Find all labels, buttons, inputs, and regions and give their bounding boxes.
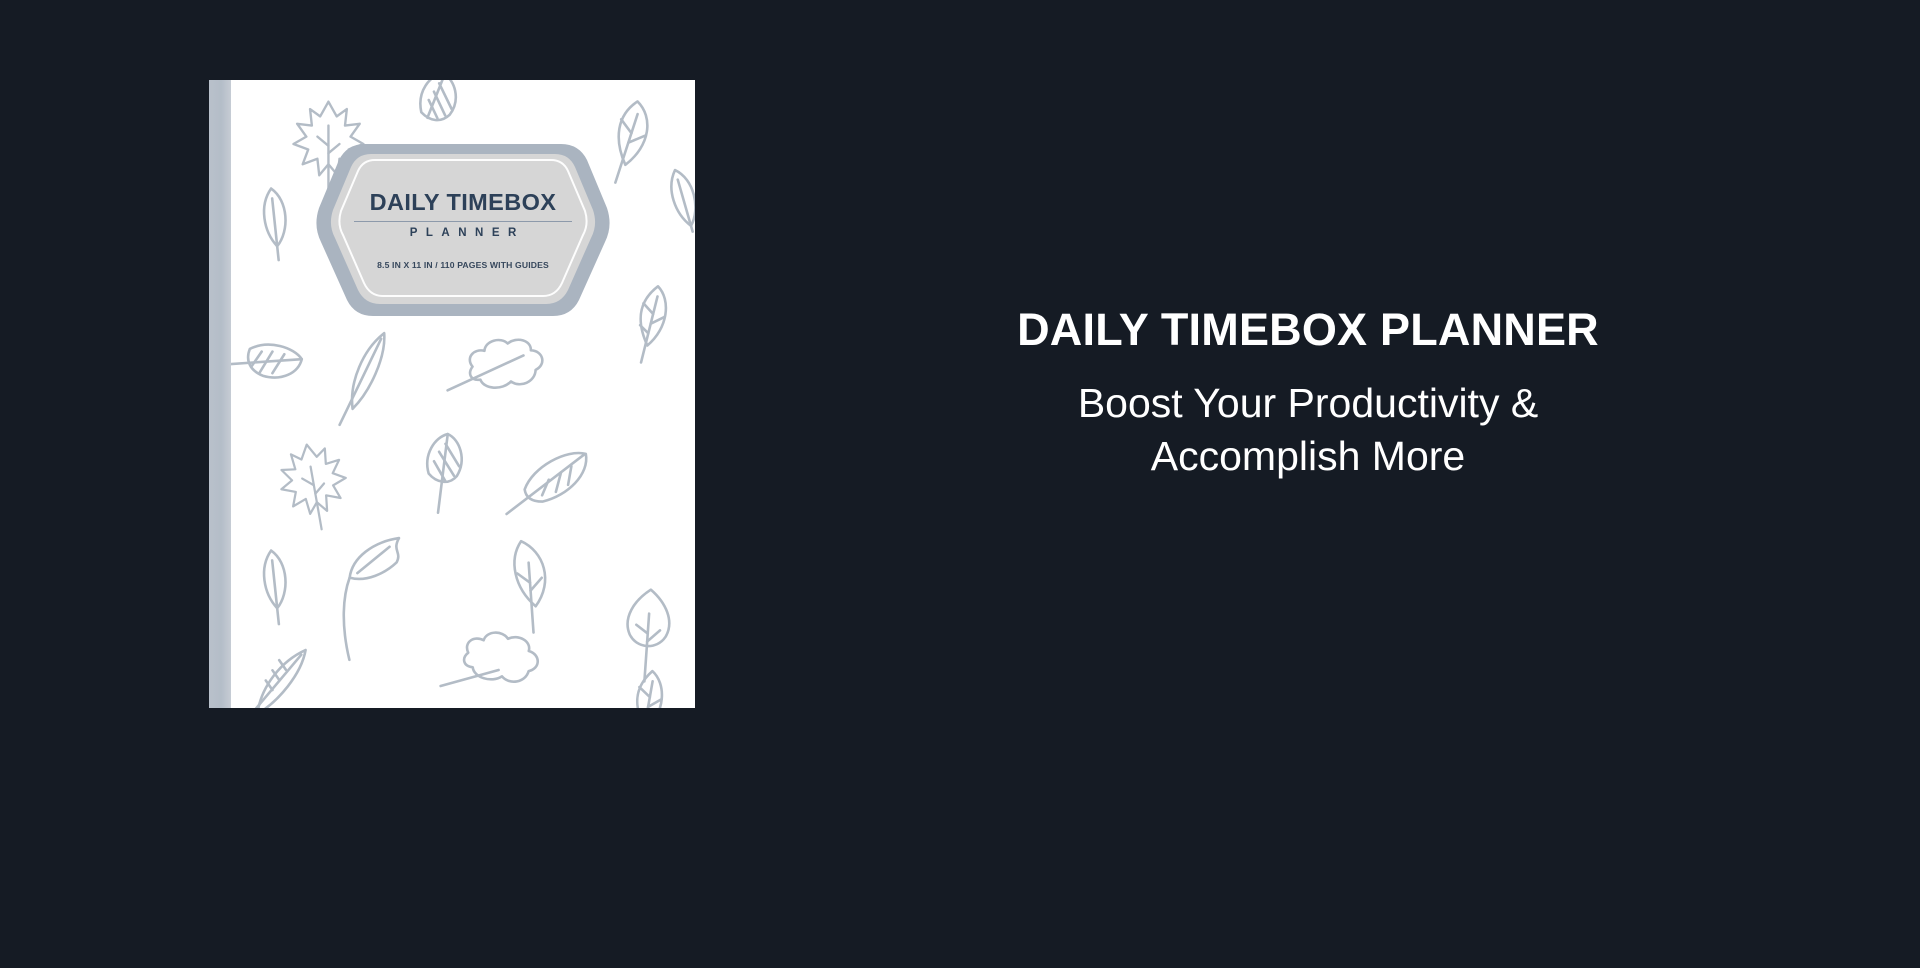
- product-copy-block: DAILY TIMEBOX PLANNER Boost Your Product…: [696, 80, 1920, 708]
- badge-title: DAILY TIMEBOX: [370, 191, 557, 215]
- badge-text-stack: DAILY TIMEBOX PLANNER 8.5 IN X 11 IN / 1…: [313, 130, 613, 326]
- product-book-cover[interactable]: DAILY TIMEBOX PLANNER 8.5 IN X 11 IN / 1…: [209, 80, 695, 708]
- page-root: DAILY TIMEBOX PLANNER 8.5 IN X 11 IN / 1…: [0, 0, 1920, 968]
- book-spine: [209, 80, 231, 708]
- badge-divider-rule: [354, 221, 572, 222]
- product-subtitle: Boost Your Productivity & Accomplish Mor…: [978, 377, 1638, 482]
- badge-subtitle: PLANNER: [401, 228, 525, 240]
- book-front-face: DAILY TIMEBOX PLANNER 8.5 IN X 11 IN / 1…: [231, 80, 695, 708]
- product-title: DAILY TIMEBOX PLANNER: [978, 306, 1638, 353]
- product-copy-inner: DAILY TIMEBOX PLANNER Boost Your Product…: [978, 306, 1638, 482]
- badge-spec-line: 8.5 IN X 11 IN / 110 PAGES WITH GUIDES: [377, 261, 549, 270]
- cover-title-badge: DAILY TIMEBOX PLANNER 8.5 IN X 11 IN / 1…: [313, 130, 613, 326]
